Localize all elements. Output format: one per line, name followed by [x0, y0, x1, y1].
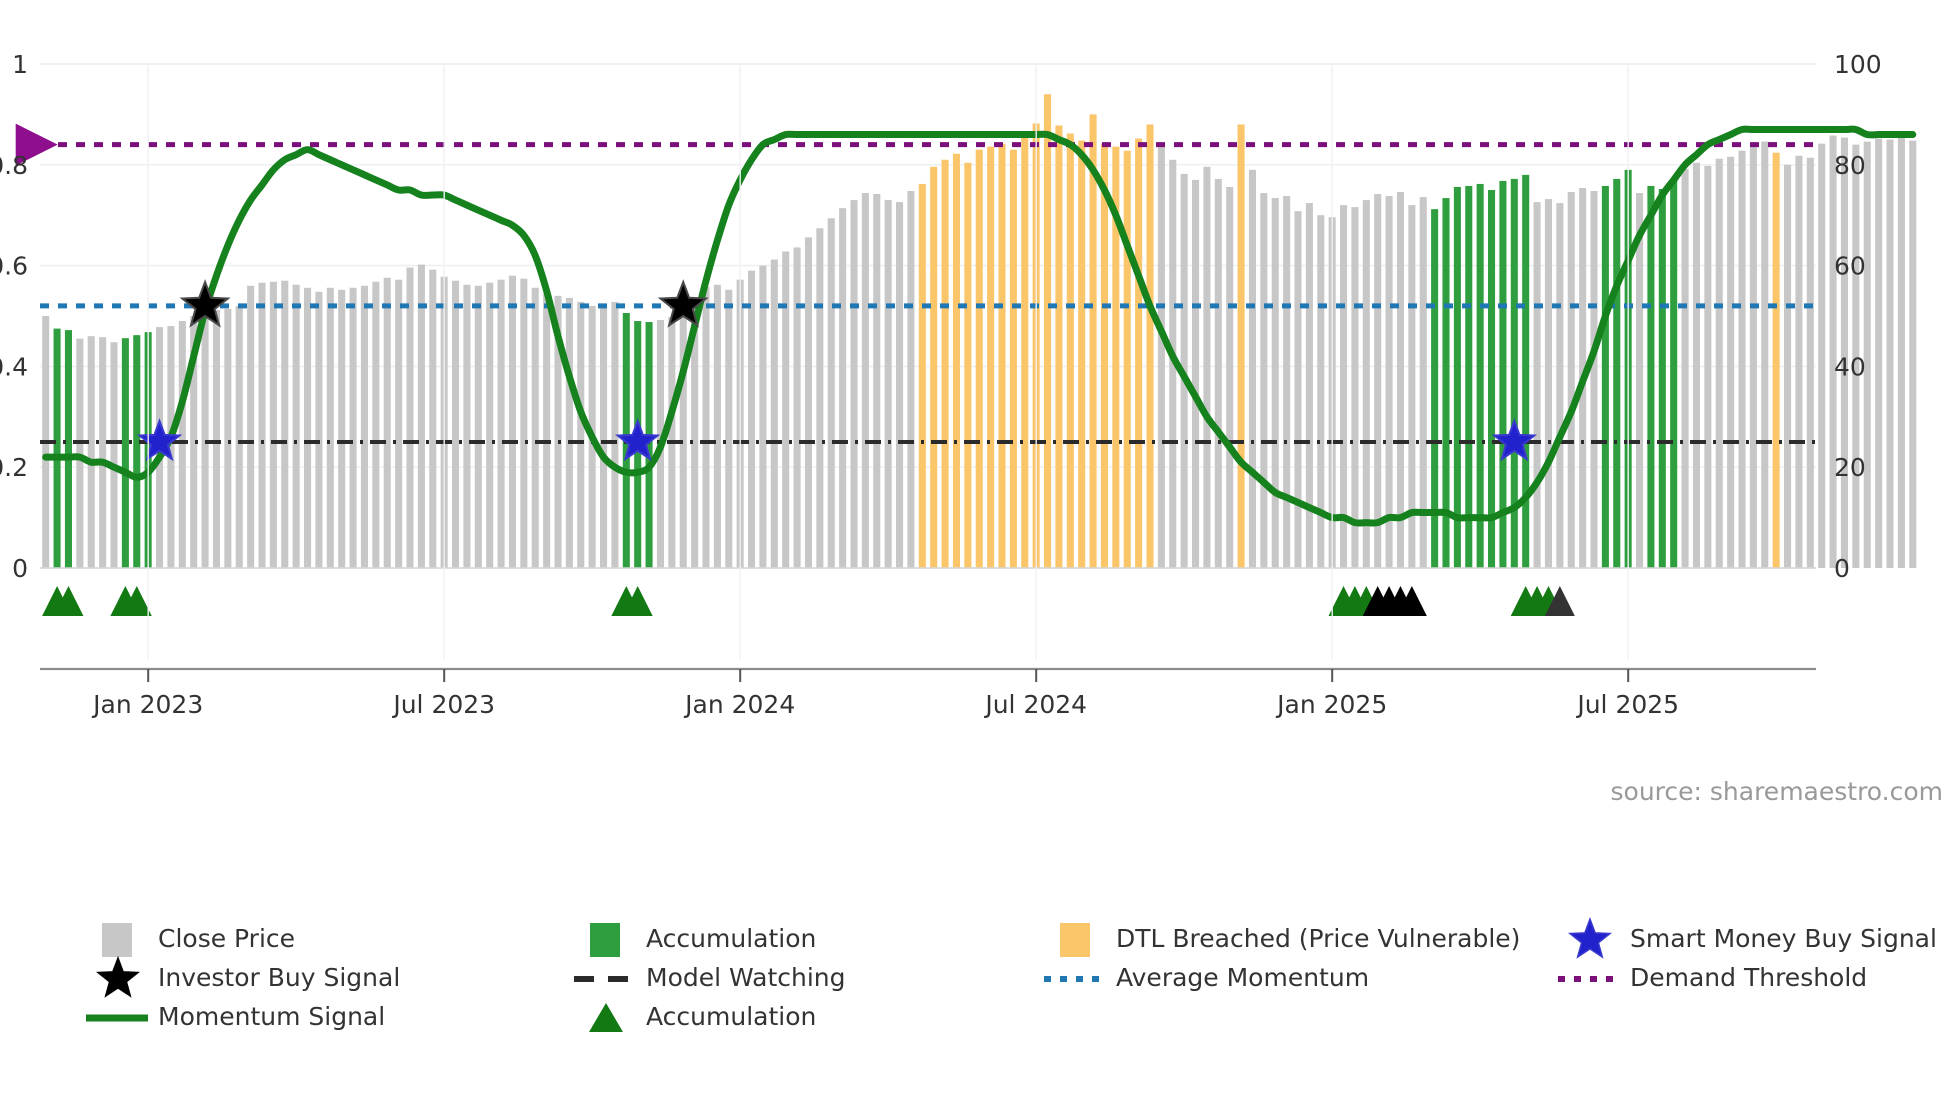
- x-axis-tick-label: Jul 2025: [1575, 690, 1679, 719]
- price-bar[interactable]: [1909, 141, 1916, 568]
- legend-swatch-star: [98, 958, 138, 996]
- legend-item-label: Smart Money Buy Signal: [1630, 924, 1937, 953]
- price-bar[interactable]: [179, 321, 186, 568]
- chart-root: 00.20.40.60.81020406080100Jan 2023Jul 20…: [0, 0, 1960, 1102]
- price-bar[interactable]: [110, 342, 117, 568]
- price-bar[interactable]: [1784, 165, 1791, 568]
- y2-axis-tick-label: 100: [1834, 50, 1882, 79]
- price-bar[interactable]: [1067, 134, 1074, 568]
- price-bar[interactable]: [1704, 166, 1711, 568]
- price-bar[interactable]: [1693, 163, 1700, 568]
- price-bar[interactable]: [1010, 150, 1017, 568]
- price-bar[interactable]: [680, 306, 687, 568]
- price-bar[interactable]: [759, 266, 766, 568]
- price-bar[interactable]: [1351, 207, 1358, 568]
- price-bar[interactable]: [418, 265, 425, 568]
- price-bar[interactable]: [1397, 192, 1404, 568]
- price-bar[interactable]: [1875, 139, 1882, 568]
- price-bar[interactable]: [99, 337, 106, 568]
- legend-close-price[interactable]: Close Price: [102, 923, 295, 957]
- price-bar[interactable]: [976, 150, 983, 568]
- price-bar[interactable]: [463, 285, 470, 568]
- price-bar[interactable]: [1738, 151, 1745, 568]
- price-bar[interactable]: [987, 147, 994, 568]
- legend-swatch-triangle: [589, 1003, 623, 1032]
- price-bar[interactable]: [1556, 203, 1563, 568]
- price-bar[interactable]: [1898, 137, 1905, 568]
- legend-accumulation-triangle[interactable]: Accumulation: [589, 1002, 816, 1032]
- price-bar[interactable]: [1090, 114, 1097, 568]
- price-bar[interactable]: [885, 200, 892, 568]
- price-bar[interactable]: [361, 286, 368, 568]
- price-bar[interactable]: [919, 184, 926, 568]
- y-axis-tick-label: 0.4: [0, 352, 28, 381]
- legend-swatch-square: [590, 923, 620, 957]
- legend-item-label: Average Momentum: [1116, 963, 1369, 992]
- price-bar[interactable]: [1602, 186, 1609, 568]
- price-bar[interactable]: [1795, 156, 1802, 568]
- price-bar[interactable]: [1773, 153, 1780, 568]
- price-bar[interactable]: [1124, 151, 1131, 568]
- accumulation-triangles-layer: [42, 586, 1575, 616]
- legend: Close PriceAccumulationDTL Breached (Pri…: [86, 919, 1937, 1032]
- y2-axis-tick-label: 0: [1834, 554, 1850, 583]
- y-axis-tick-label: 0.2: [0, 453, 28, 482]
- price-bar[interactable]: [771, 260, 778, 568]
- x-axis-tick-label: Jan 2024: [683, 690, 795, 719]
- legend-item-label: Accumulation: [646, 924, 816, 953]
- price-bar[interactable]: [1590, 191, 1597, 568]
- price-bar[interactable]: [224, 309, 231, 568]
- price-bar[interactable]: [1135, 139, 1142, 568]
- price-bar[interactable]: [566, 298, 573, 568]
- price-bar[interactable]: [1374, 194, 1381, 568]
- y2-axis-tick-label: 40: [1834, 352, 1866, 381]
- price-bar[interactable]: [907, 191, 914, 568]
- price-bar[interactable]: [338, 290, 345, 568]
- price-bar[interactable]: [862, 193, 869, 568]
- x-axis-tick-label: Jul 2024: [983, 690, 1087, 719]
- legend-investor-buy[interactable]: Investor Buy Signal: [98, 958, 400, 996]
- price-bar[interactable]: [452, 281, 459, 568]
- price-bar[interactable]: [782, 251, 789, 568]
- price-bar[interactable]: [236, 306, 243, 568]
- legend-item-label: Model Watching: [646, 963, 846, 992]
- price-bar[interactable]: [1670, 180, 1677, 568]
- price-bar[interactable]: [304, 288, 311, 568]
- legend-demand-threshold[interactable]: Demand Threshold: [1558, 963, 1867, 992]
- y2-axis-tick-label: 60: [1834, 252, 1866, 281]
- price-bar[interactable]: [1477, 184, 1484, 568]
- price-bar[interactable]: [1249, 170, 1256, 568]
- price-bar[interactable]: [1044, 94, 1051, 568]
- price-bar[interactable]: [258, 283, 265, 568]
- price-bar[interactable]: [1101, 144, 1108, 568]
- price-bar[interactable]: [498, 280, 505, 568]
- price-bar[interactable]: [213, 310, 220, 568]
- price-bar[interactable]: [1807, 158, 1814, 568]
- legend-item-label: Investor Buy Signal: [158, 963, 400, 992]
- price-bar[interactable]: [1146, 124, 1153, 568]
- legend-swatch-star: [1570, 919, 1610, 957]
- price-bar[interactable]: [1078, 141, 1085, 568]
- legend-swatch-square: [1060, 923, 1090, 957]
- legend-dtl-breached[interactable]: DTL Breached (Price Vulnerable): [1060, 923, 1520, 957]
- price-bar[interactable]: [429, 270, 436, 568]
- price-bar[interactable]: [1021, 135, 1028, 568]
- price-bar[interactable]: [509, 276, 516, 568]
- price-bar[interactable]: [1750, 146, 1757, 568]
- x-axis-tick-label: Jul 2023: [391, 690, 495, 719]
- price-bar[interactable]: [543, 294, 550, 568]
- x-axis-tick-label: Jan 2023: [91, 690, 203, 719]
- price-bar[interactable]: [1215, 179, 1222, 568]
- price-bar[interactable]: [1545, 199, 1552, 568]
- price-bar[interactable]: [1727, 157, 1734, 568]
- price-bar[interactable]: [281, 281, 288, 568]
- price-bar[interactable]: [942, 160, 949, 568]
- price-bar[interactable]: [1203, 167, 1210, 568]
- legend-average-momentum[interactable]: Average Momentum: [1044, 963, 1369, 992]
- legend-item-label: DTL Breached (Price Vulnerable): [1116, 924, 1520, 953]
- legend-item-label: Momentum Signal: [158, 1002, 385, 1031]
- price-bar[interactable]: [65, 330, 72, 568]
- price-bar[interactable]: [964, 163, 971, 568]
- price-bar[interactable]: [475, 286, 482, 568]
- price-bar[interactable]: [953, 154, 960, 568]
- price-bar[interactable]: [532, 288, 539, 568]
- price-bar[interactable]: [486, 283, 493, 568]
- price-bar[interactable]: [998, 144, 1005, 568]
- price-bar[interactable]: [1238, 124, 1245, 568]
- price-bar[interactable]: [327, 288, 334, 568]
- price-bar[interactable]: [1226, 187, 1233, 568]
- legend-item-label: Close Price: [158, 924, 295, 953]
- price-bar[interactable]: [725, 290, 732, 568]
- price-bar[interactable]: [293, 285, 300, 568]
- price-bar[interactable]: [1386, 196, 1393, 568]
- y2-axis-tick-label: 20: [1834, 453, 1866, 482]
- price-bar[interactable]: [520, 279, 527, 568]
- price-bar[interactable]: [1340, 205, 1347, 568]
- price-bar[interactable]: [1488, 190, 1495, 568]
- price-bar[interactable]: [1272, 198, 1279, 568]
- price-bar[interactable]: [1363, 200, 1370, 568]
- price-bar[interactable]: [247, 286, 254, 568]
- price-bar[interactable]: [1306, 203, 1313, 568]
- price-bar[interactable]: [748, 271, 755, 568]
- price-bar[interactable]: [1465, 186, 1472, 568]
- legend-accumulation-bar[interactable]: Accumulation: [590, 923, 816, 957]
- price-bar[interactable]: [1055, 125, 1062, 568]
- price-bar[interactable]: [372, 282, 379, 568]
- y-axis-tick-label: 0: [12, 554, 28, 583]
- price-bar[interactable]: [850, 200, 857, 568]
- y2-axis-tick-label: 80: [1834, 151, 1866, 180]
- price-bar[interactable]: [270, 282, 277, 568]
- price-bar[interactable]: [1682, 169, 1689, 568]
- price-bar[interactable]: [1283, 196, 1290, 568]
- price-bar[interactable]: [600, 308, 607, 568]
- price-bar[interactable]: [805, 237, 812, 568]
- price-bar[interactable]: [1522, 175, 1529, 568]
- price-bar[interactable]: [1294, 211, 1301, 568]
- price-bar[interactable]: [1761, 142, 1768, 568]
- price-bar[interactable]: [88, 336, 95, 568]
- price-bar[interactable]: [896, 202, 903, 568]
- price-bar[interactable]: [1886, 140, 1893, 568]
- price-bar[interactable]: [577, 302, 584, 568]
- price-bar[interactable]: [54, 329, 61, 568]
- price-bar[interactable]: [202, 307, 209, 568]
- price-bar[interactable]: [839, 208, 846, 568]
- x-axis-tick-label: Jan 2025: [1275, 690, 1387, 719]
- source-note: source: sharemaestro.com: [1611, 777, 1944, 806]
- price-bar[interactable]: [395, 280, 402, 568]
- price-bar[interactable]: [930, 167, 937, 568]
- price-bar[interactable]: [1534, 202, 1541, 568]
- y-axis-tick-label: 0.8: [0, 151, 28, 180]
- price-bar[interactable]: [1454, 187, 1461, 568]
- price-bar[interactable]: [406, 268, 413, 568]
- price-bar[interactable]: [122, 338, 129, 568]
- y-axis-tick-label: 0.6: [0, 252, 28, 281]
- legend-item-label: Demand Threshold: [1630, 963, 1867, 992]
- price-bar[interactable]: [1716, 159, 1723, 568]
- price-bar[interactable]: [828, 218, 835, 568]
- legend-model-watching[interactable]: Model Watching: [574, 963, 846, 992]
- momentum-price-chart: 00.20.40.60.81020406080100Jan 2023Jul 20…: [0, 0, 1960, 1102]
- price-bar[interactable]: [1158, 144, 1165, 568]
- price-bar[interactable]: [315, 292, 322, 568]
- price-bar[interactable]: [1818, 144, 1825, 568]
- price-bar[interactable]: [702, 287, 709, 568]
- y-axis-tick-label: 1: [12, 50, 28, 79]
- price-bar[interactable]: [1636, 193, 1643, 568]
- price-bar[interactable]: [1613, 179, 1620, 568]
- price-bar[interactable]: [384, 278, 391, 568]
- price-bar[interactable]: [873, 194, 880, 568]
- price-bar[interactable]: [1647, 186, 1654, 568]
- legend-item-label: Accumulation: [646, 1002, 816, 1031]
- legend-smart-money-buy[interactable]: Smart Money Buy Signal: [1570, 919, 1937, 957]
- price-bar[interactable]: [133, 335, 140, 568]
- price-bar[interactable]: [1260, 193, 1267, 568]
- price-bar[interactable]: [350, 288, 357, 568]
- legend-momentum-signal[interactable]: Momentum Signal: [86, 1002, 385, 1031]
- price-bar[interactable]: [1659, 189, 1666, 568]
- price-bar[interactable]: [1192, 180, 1199, 568]
- price-bar[interactable]: [794, 247, 801, 568]
- price-bar[interactable]: [816, 228, 823, 568]
- price-bar[interactable]: [714, 285, 721, 568]
- price-bar[interactable]: [1568, 192, 1575, 568]
- legend-swatch-square: [102, 923, 132, 957]
